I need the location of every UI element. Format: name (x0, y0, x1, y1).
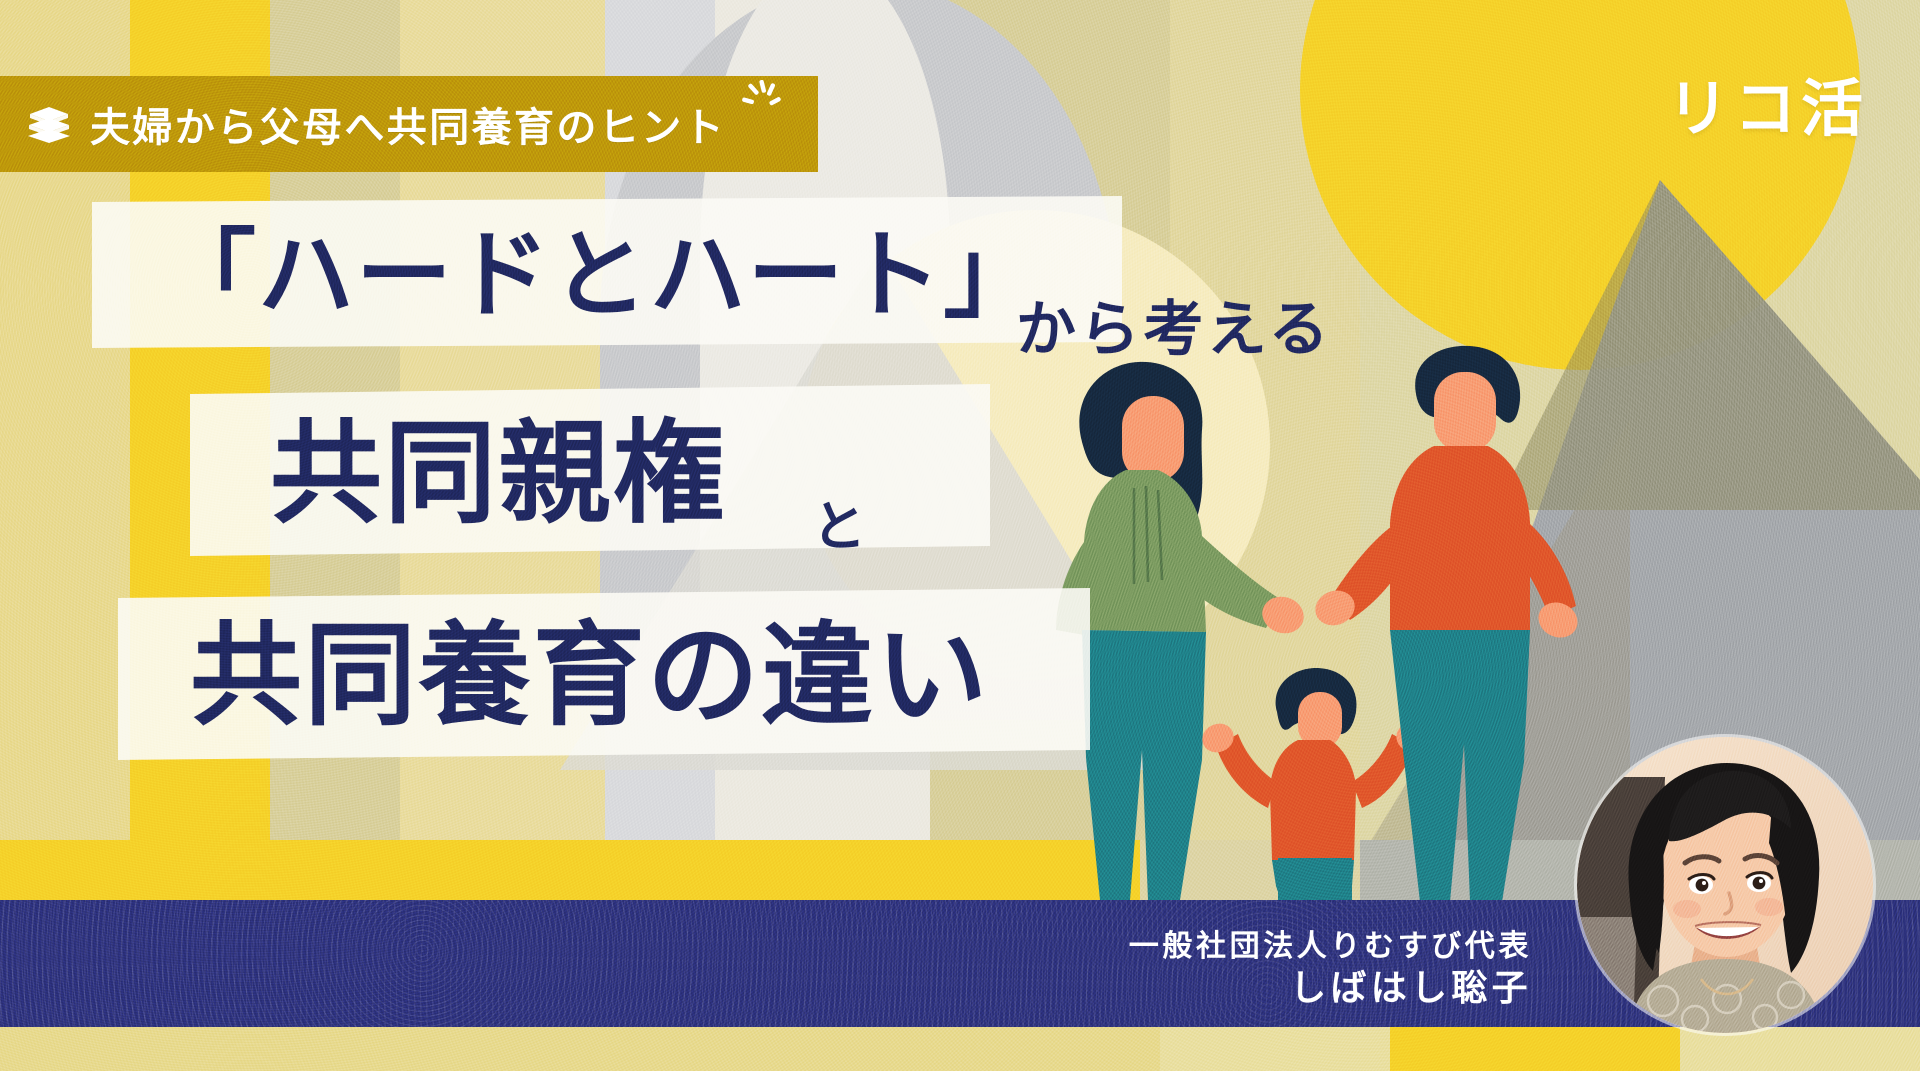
category-banner-text: 夫婦から父母へ共同養育のヒント (90, 95, 726, 153)
headline-line-1-suffix: から考える (1016, 300, 1332, 360)
headline-line-2-suffix: と (812, 500, 867, 554)
figure-child (1198, 668, 1433, 910)
speaker-avatar (1577, 737, 1873, 1033)
category-banner: 夫婦から父母へ共同養育のヒント (0, 76, 818, 172)
headline-line-3: 共同養育の違い (190, 620, 990, 732)
bg-bottom-yellow-accent (1390, 1026, 1680, 1071)
sparkle-icon (740, 80, 784, 124)
avatar-photo (1577, 737, 1873, 1033)
speaker-credit: 一般社団法人りむすび代表 しばはし聡子 (1129, 928, 1532, 1010)
speaker-role: 一般社団法人りむすび代表 (1129, 928, 1532, 966)
headline-line-2: 共同親権 (270, 418, 727, 530)
figure-mother (1056, 362, 1309, 900)
family-illustration (1030, 330, 1590, 910)
bg-bottom-pale-strip (0, 1026, 1160, 1071)
book-stack-icon (26, 102, 72, 146)
speaker-name: しばはし聡子 (1129, 966, 1532, 1011)
brand-logo[interactable]: リコ活 (1667, 58, 1868, 148)
hero-banner-canvas: 夫婦から父母へ共同養育のヒント リコ活 (0, 0, 1920, 1071)
headline-line-1: 「ハードとハート」 (160, 228, 1041, 324)
